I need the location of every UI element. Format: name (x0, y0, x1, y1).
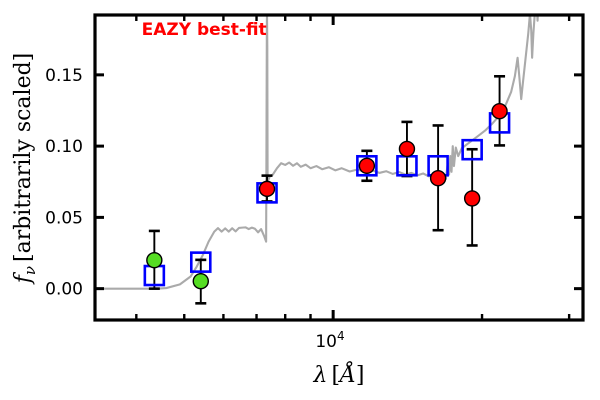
svg-text:104: 104 (315, 329, 344, 352)
x-tick-mantissa: 10 (315, 332, 337, 352)
svg-text:λ[Å]: λ[Å] (312, 360, 364, 388)
observed-photometry-marker (465, 191, 480, 206)
y-tick-labels: 0.000.050.100.15 (45, 66, 83, 300)
x-tick-label-major: 104 (315, 329, 344, 352)
y-axis-units-text: [arbitrarily scaled] (11, 53, 36, 262)
observed-photometry-marker (359, 158, 374, 173)
observed-photometry-marker (431, 171, 446, 186)
svg-text:EAZY best-fit: EAZY best-fit (142, 20, 267, 40)
y-tick-label: 0.10 (45, 137, 83, 157)
observed-photometry-marker (260, 181, 275, 196)
y-tick-label: 0.05 (45, 208, 83, 228)
x-axis-label: λ[Å] (312, 360, 364, 388)
observed-photometry-marker (492, 104, 507, 119)
sed-plot: 0.000.050.100.15 104 λ[Å] fν[arbitrarily… (0, 0, 600, 400)
svg-text:fν[arbitrarily scaled]: fν[arbitrarily scaled] (11, 53, 39, 286)
y-axis-nu-symbol: ν (21, 266, 39, 275)
y-tick-label: 0.15 (45, 66, 83, 86)
figure-container: 0.000.050.100.15 104 λ[Å] fν[arbitrarily… (0, 0, 600, 400)
annotation-eazy-best-fit: EAZY best-fit (142, 20, 267, 40)
y-axis-label: fν[arbitrarily scaled] (11, 53, 39, 286)
observed-photometry-marker (147, 253, 162, 268)
x-tick-exponent: 4 (337, 329, 345, 343)
y-tick-label: 0.00 (45, 280, 83, 300)
observed-photometry-marker (399, 141, 414, 156)
plot-background (95, 15, 583, 320)
observed-photometry-marker (193, 274, 208, 289)
